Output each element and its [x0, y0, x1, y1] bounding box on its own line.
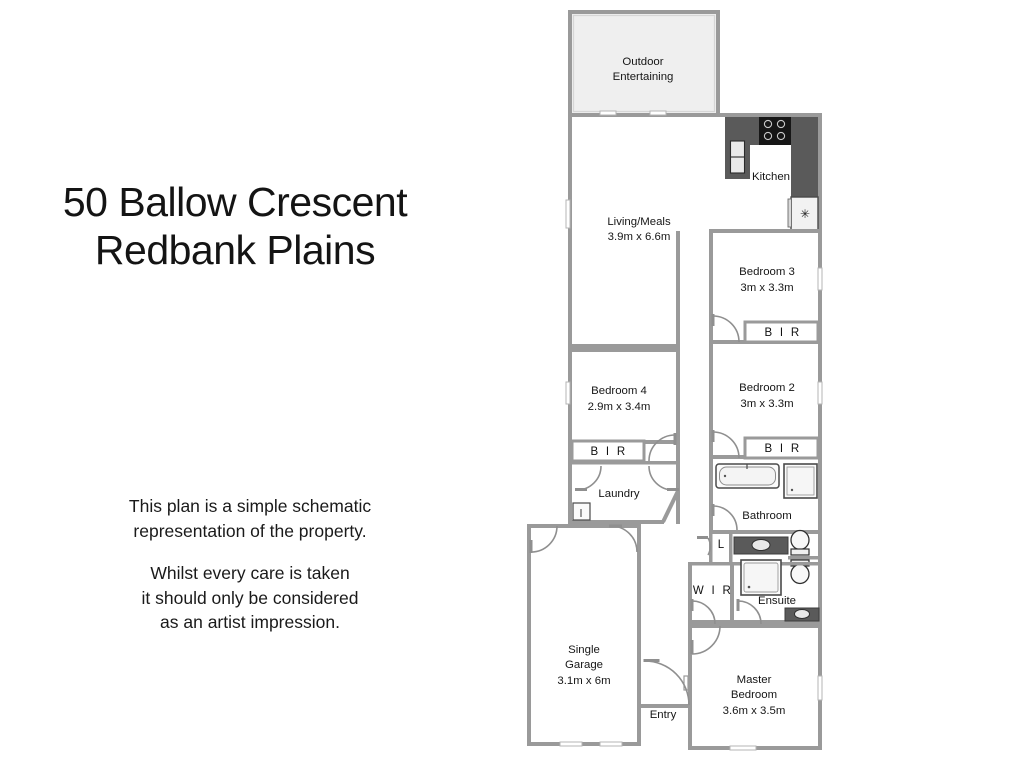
door-laundry-right: [649, 466, 679, 491]
wall-wir-top: [688, 562, 734, 566]
bir-bed3-label: B I R: [764, 327, 801, 339]
wir-label: W I R: [693, 585, 733, 597]
master-bedroom-label-line2: Bedroom: [731, 689, 777, 701]
garage-label-line2: Garage: [565, 659, 603, 671]
door-bed3-arc: [713, 316, 739, 342]
laundry-label: Laundry: [598, 488, 639, 500]
wall-wir-left: [688, 562, 692, 624]
door-master-leaf: [691, 640, 694, 654]
wall-bathroom-left: [709, 459, 713, 534]
toilet-ensuite-bowl: [791, 565, 809, 584]
door-garage-left: [530, 526, 558, 553]
bir-bedroom-3: B I R: [745, 322, 818, 342]
room-kitchen: ✳ Kitchen: [725, 117, 818, 231]
linen-label: L: [718, 539, 725, 551]
door-laundry-right-leaf: [667, 488, 679, 491]
door-master-bedroom: [691, 626, 721, 654]
door-bed3-leaf: [712, 314, 715, 326]
room-single-garage: Single Garage 3.1m x 6m: [527, 524, 641, 746]
master-bedroom-label-line1: Master: [737, 674, 772, 686]
room-living-meals: Living/Meals 3.9m x 6.6m: [568, 216, 680, 524]
wall-garage-right: [637, 524, 641, 746]
floor-plan-drawing: Outdoor Entertaining: [0, 0, 1024, 768]
door-laundry-left: [575, 466, 601, 491]
window-living-top-2: [650, 111, 666, 115]
room-bedroom-2: Bedroom 2 3m x 3.3m B I R: [709, 344, 822, 459]
wall-garage-top: [527, 524, 641, 528]
room-outdoor-entertaining: Outdoor Entertaining: [570, 12, 718, 115]
bath-shower-tray: [787, 467, 814, 495]
window-master-bottom: [730, 746, 756, 750]
wall-living-bottom: [568, 344, 680, 348]
wall-laundry-right: [676, 461, 680, 491]
bathtub-inner: [720, 467, 776, 485]
window-bed2-right: [818, 382, 822, 404]
door-garage-left-leaf: [530, 540, 533, 553]
room-wir: W I R: [688, 562, 734, 624]
wall-entry-threshold: [641, 704, 688, 708]
kitchen-bench-top-left: [750, 117, 759, 145]
window-living-left: [566, 200, 570, 228]
door-garage-right-arc: [611, 526, 637, 552]
room-entry: Entry: [641, 659, 689, 721]
bir-bed4-label: B I R: [590, 446, 627, 458]
door-bathroom-leaf: [712, 504, 715, 516]
window-master-right: [818, 676, 822, 700]
room-linen: L: [697, 534, 733, 562]
room-ensuite: Ensuite: [734, 560, 822, 624]
door-bed4-arc: [649, 435, 675, 461]
fridge-door-edge: [788, 199, 792, 227]
bathtub-icon: [716, 464, 779, 488]
vanity-1-basin: [752, 540, 770, 551]
wall-wir-bottom: [688, 620, 734, 624]
door-entry-leaf: [644, 659, 660, 662]
door-bathroom: [712, 504, 738, 530]
vanity-2-basin: [795, 610, 810, 619]
door-garage-right: [609, 525, 637, 553]
room-bathroom: Bathroom: [709, 459, 822, 534]
window-bed3-right: [818, 268, 822, 290]
wall-bed3-top: [709, 229, 822, 233]
room-bedroom-4: Bedroom 4 2.9m x 3.4m B I R: [568, 348, 680, 461]
ensuite-label: Ensuite: [758, 595, 796, 607]
floor-plan-page: 50 Ballow Crescent Redbank Plains This p…: [0, 0, 1024, 768]
vanity-basin-2-icon: [785, 608, 819, 621]
laundry-tub-icon: [573, 503, 590, 520]
door-linen: [697, 536, 710, 555]
wall-laundry-left: [568, 461, 572, 524]
door-ensuite-leaf: [737, 599, 740, 611]
cooktop-surface: [759, 117, 791, 145]
living-meals-label: Living/Meals: [607, 216, 671, 228]
door-wir-leaf: [691, 599, 694, 611]
bedroom-2-dimensions: 3m x 3.3m: [740, 398, 793, 410]
door-linen-leaf: [697, 536, 708, 539]
door-bed2-leaf: [712, 430, 715, 442]
door-bathroom-arc: [713, 506, 737, 530]
window-living-top-1: [600, 111, 616, 115]
room-master-bedroom: Master Bedroom 3.6m x 3.5m: [684, 624, 822, 750]
bir-bedroom-2: B I R: [745, 438, 818, 458]
bedroom-3-dimensions: 3m x 3.3m: [740, 282, 793, 294]
entry-label: Entry: [650, 709, 677, 721]
wall-bed3-left: [709, 229, 713, 344]
door-garage-right-leaf: [609, 525, 622, 528]
door-entry-arc: [645, 661, 689, 705]
cooktop-icon: [759, 117, 791, 145]
room-laundry: Laundry: [568, 461, 680, 524]
window-garage-bottom-1: [560, 742, 582, 746]
bath-shower-icon: [784, 464, 817, 498]
outdoor-entertaining-label-line2: Entertaining: [613, 71, 674, 83]
bedroom-3-label: Bedroom 3: [739, 266, 795, 278]
bedroom-4-dimensions: 2.9m x 3.4m: [588, 401, 651, 413]
bathtub-drain: [724, 475, 726, 477]
garage-label-line1: Single: [568, 644, 600, 656]
garage-dimensions: 3.1m x 6m: [557, 675, 610, 687]
toilet-wc-bowl: [791, 531, 809, 550]
window-garage-bottom-2: [600, 742, 622, 746]
window-bed4-left: [566, 382, 570, 404]
door-bed2-arc: [713, 432, 739, 458]
bir-bedroom-4: B I R: [572, 441, 644, 461]
door-laundry-left-arc: [577, 466, 601, 490]
master-bedroom-dimensions: 3.6m x 3.5m: [723, 705, 786, 717]
wall-bed4-top: [568, 348, 680, 352]
wall-laundry-chamfer: [663, 491, 678, 522]
vanity-basin-1-icon: [734, 537, 788, 554]
fridge-symbol: ✳: [800, 207, 810, 221]
ensuite-shower-icon: [741, 560, 781, 595]
fridge-icon: ✳: [788, 197, 818, 231]
door-entry: [644, 659, 690, 705]
outdoor-entertaining-label-line1: Outdoor: [622, 56, 663, 68]
wall-linen-right: [729, 534, 733, 562]
wall-garage-bottom: [527, 742, 641, 746]
wall-living-right-upper: [676, 231, 680, 348]
bathroom-label: Bathroom: [742, 510, 791, 522]
door-laundry-right-arc: [649, 466, 673, 490]
kitchen-label: Kitchen: [752, 171, 790, 183]
bedroom-4-label: Bedroom 4: [591, 385, 647, 397]
door-bed4-leaf: [674, 433, 677, 445]
kitchen-sink-icon: [731, 141, 745, 173]
wall-living-left: [568, 113, 572, 348]
wall-master-top: [688, 624, 822, 628]
door-bedroom-2: [712, 430, 740, 458]
bedroom-2-label: Bedroom 2: [739, 382, 795, 394]
door-garage-left-arc: [531, 526, 557, 552]
bir-bed2-label: B I R: [764, 443, 801, 455]
door-bedroom-4: [649, 433, 677, 461]
wall-laundry-top: [568, 461, 680, 465]
room-bedroom-3: Bedroom 3 3m x 3.3m B I R: [709, 229, 822, 344]
wall-wc-divider: [788, 556, 822, 560]
ensuite-shower-drain: [748, 586, 751, 589]
living-meals-dimensions: 3.9m x 6.6m: [608, 231, 671, 243]
bath-shower-drain: [791, 489, 793, 491]
toilet-wc-icon: [791, 531, 809, 556]
door-master-arc: [692, 626, 720, 654]
wall-garage-left: [527, 524, 531, 746]
toilet-wc-cistern: [791, 549, 809, 555]
door-bedroom-3: [712, 314, 740, 342]
door-laundry-left-leaf: [575, 488, 587, 491]
